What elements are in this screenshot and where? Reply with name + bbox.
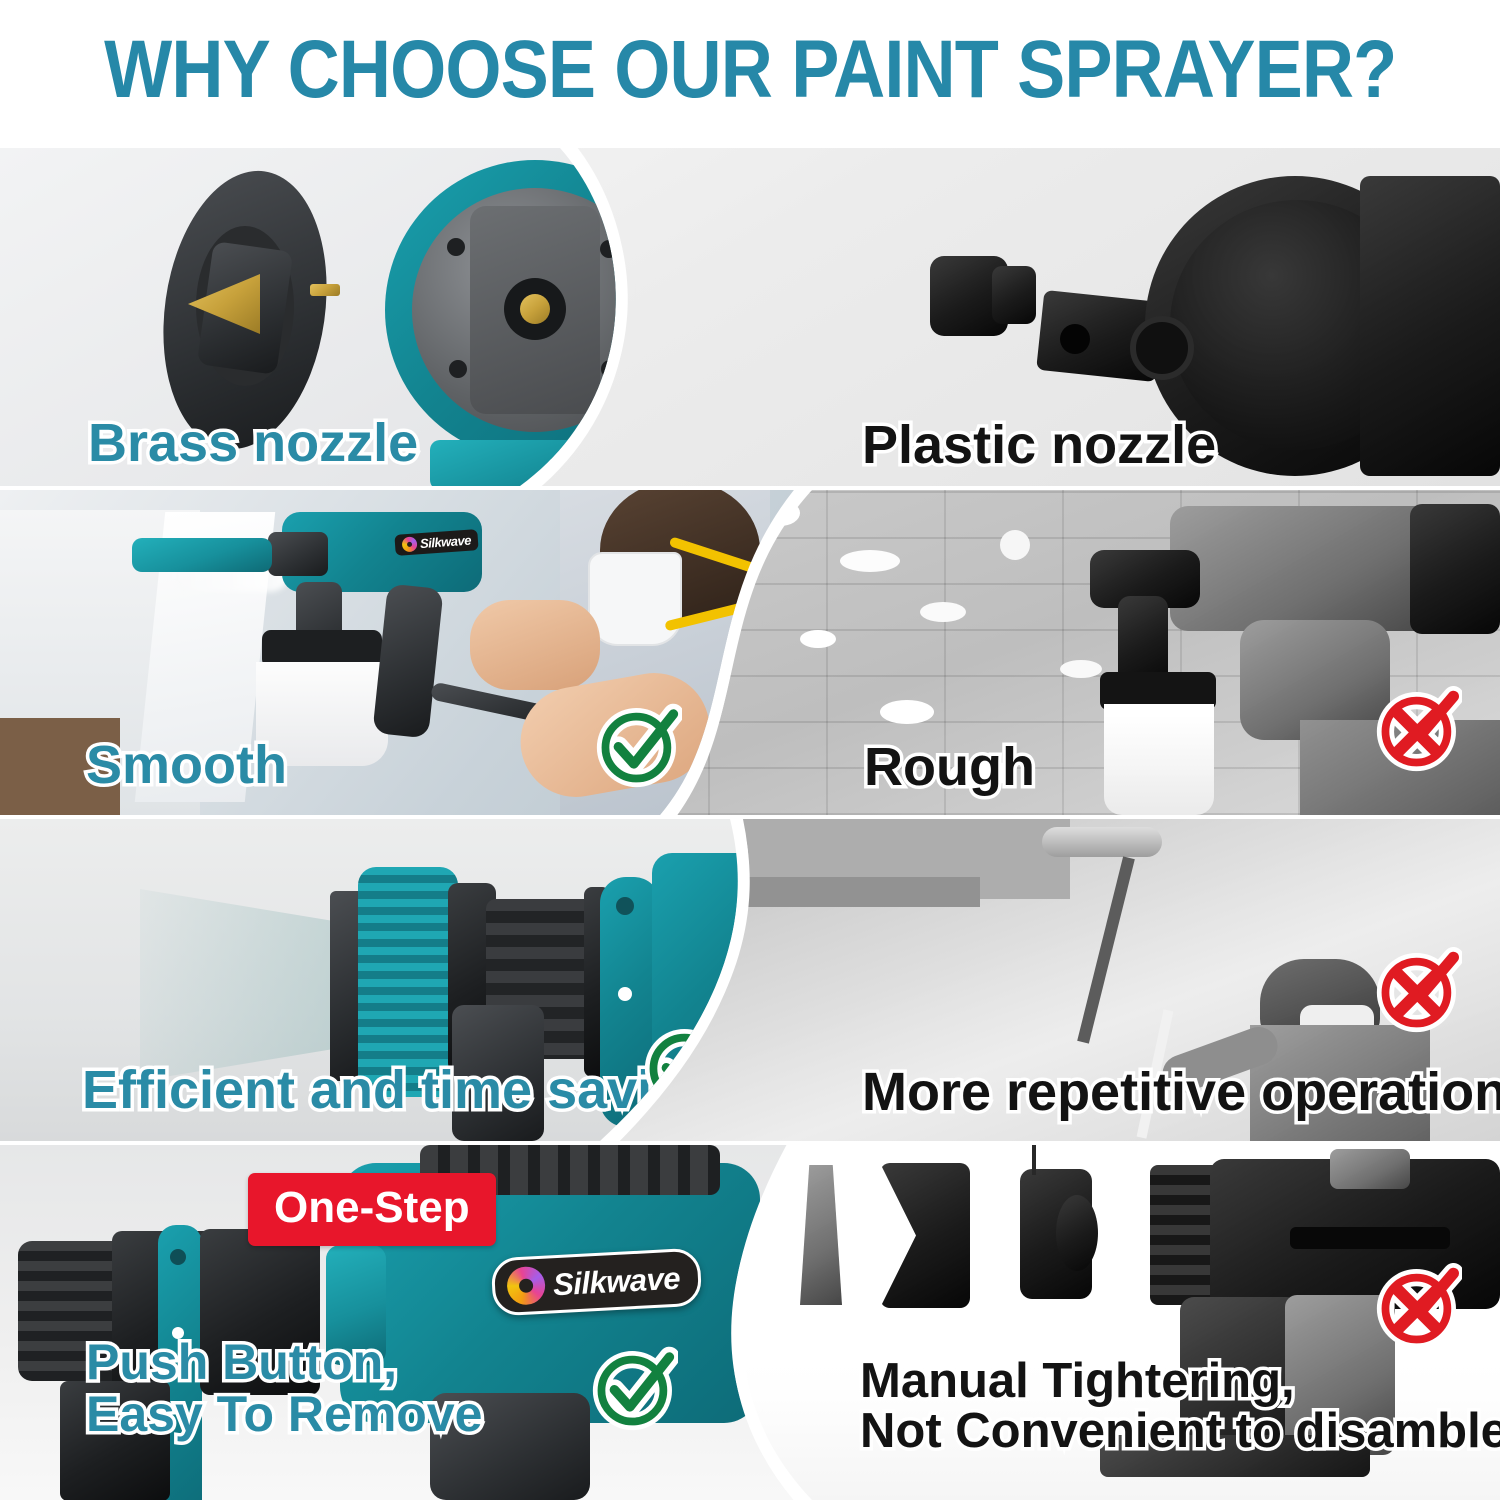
- exploded-part-wedge: [800, 1165, 842, 1305]
- paint-splatter: [920, 602, 966, 622]
- exploded-needle: [1032, 1145, 1036, 1175]
- cross-icon: [1376, 947, 1462, 1033]
- competitor-sprayer-body: [1170, 506, 1440, 631]
- screw-hole-tl: [447, 238, 465, 256]
- pro-label-assembly-line2: Easy To Remove: [86, 1389, 482, 1440]
- comparison-row-nozzle: Brass nozzle Pla: [0, 148, 1500, 486]
- pro-label-efficiency: Efficient and time saving: [82, 1063, 718, 1118]
- brass-pin: [310, 284, 340, 296]
- one-step-badge: One-Step: [248, 1173, 496, 1246]
- cross-icon: [1376, 686, 1462, 772]
- bracket-hole: [1060, 324, 1090, 354]
- brand-logo-badge: Silkwave: [491, 1248, 703, 1317]
- pro-label-nozzle: Brass nozzle: [88, 416, 418, 471]
- con-label-assembly-line1: Manual Tightering,: [860, 1357, 1295, 1407]
- paint-splatter: [840, 550, 900, 572]
- latch-pivot: [616, 897, 634, 915]
- cross-icon: [1376, 1263, 1462, 1349]
- lever-pivot: [170, 1249, 186, 1265]
- competitor-battery: [1410, 504, 1500, 634]
- latch-button: [618, 987, 632, 1001]
- page-title: WHY CHOOSE OUR PAINT SPRAYER?: [104, 29, 1396, 111]
- paint-splatter: [1060, 660, 1102, 678]
- comparison-row-efficiency: Efficient and time saving: [0, 819, 1500, 1141]
- sprayer-collar: [268, 532, 328, 576]
- body-slot: [1290, 1227, 1450, 1249]
- brand-name: Silkwave: [420, 534, 472, 551]
- roller-pole: [1077, 856, 1135, 1043]
- comparison-row-assembly: Silkwave One-Step Push Button, Easy To R…: [0, 1145, 1500, 1500]
- brand-name: Silkwave: [552, 1262, 680, 1300]
- con-label-nozzle: Plastic nozzle: [862, 418, 1216, 473]
- plastic-housing-barrel: [1360, 176, 1500, 476]
- swirl-icon: [506, 1266, 546, 1306]
- screw-hole-tr: [600, 240, 618, 258]
- con-label-finish: Rough: [864, 740, 1035, 795]
- face-mask: [588, 552, 682, 646]
- paint-roller: [1042, 827, 1162, 857]
- paint-splatter: [880, 700, 934, 724]
- pro-label-assembly-line1: Push Button,: [86, 1337, 397, 1388]
- person-hand: [470, 600, 600, 690]
- screw-hole-bl: [449, 360, 467, 378]
- con-label-assembly-line2: Not Convenient to disamble: [860, 1407, 1500, 1457]
- header: WHY CHOOSE OUR PAINT SPRAYER?: [0, 0, 1500, 140]
- housing-port: [1130, 316, 1194, 380]
- swirl-icon: [402, 536, 418, 552]
- sprayer-nozzle-front: [132, 538, 272, 572]
- comparison-row-finish: Silkwave Smooth: [0, 490, 1500, 815]
- brass-orifice: [520, 294, 550, 324]
- infographic-page: WHY CHOOSE OUR PAINT SPRAYER?: [0, 0, 1500, 1500]
- exploded-part-cap: [880, 1163, 970, 1308]
- top-latch: [1330, 1149, 1410, 1189]
- paint-splatter: [1000, 530, 1030, 560]
- paint-splatter: [800, 630, 836, 648]
- check-icon: [596, 702, 682, 788]
- con-label-efficiency: More repetitive operations: [862, 1065, 1500, 1120]
- competitor-cup: [1104, 704, 1214, 815]
- pro-label-finish: Smooth: [86, 738, 287, 793]
- check-icon: [592, 1345, 678, 1431]
- sprayer-handle: [372, 583, 443, 738]
- plastic-nozzle-collar: [992, 266, 1036, 324]
- wall-edge: [740, 877, 980, 907]
- exploded-part-hub: [1056, 1195, 1098, 1271]
